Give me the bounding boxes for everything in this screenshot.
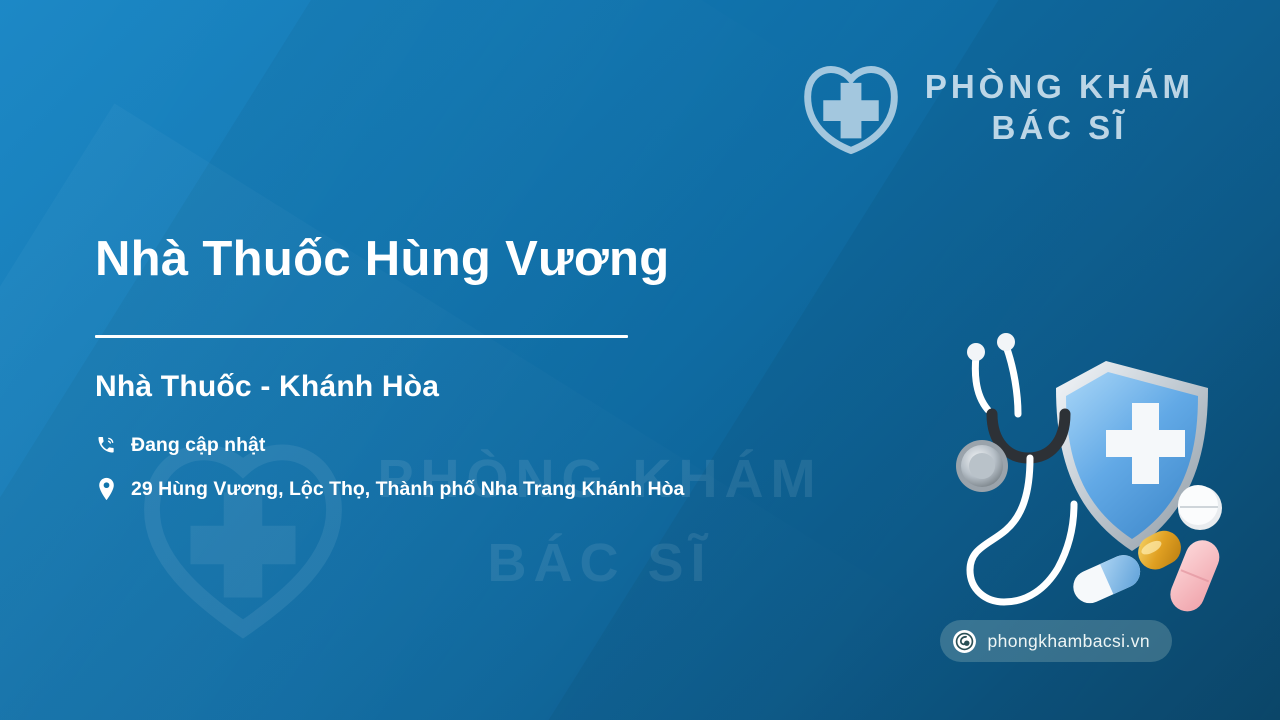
phone-status-text: Đang cập nhật	[131, 431, 265, 461]
white-round-tablet	[1178, 485, 1222, 530]
brand-line-2: BÁC SĨ	[991, 109, 1127, 148]
title-divider	[95, 335, 628, 338]
blue-white-capsule	[1068, 550, 1145, 609]
watermark-line-2: BÁC SĨ	[300, 522, 900, 606]
brand-logo: PHÒNG KHÁM BÁC SĨ	[799, 60, 1194, 156]
website-url-text: phongkhambacsi.vn	[988, 631, 1150, 652]
contact-row-phone: Đang cập nhật	[95, 431, 795, 461]
main-content: Nhà Thuốc Hùng Vương Nhà Thuốc - Khánh H…	[95, 232, 795, 519]
stethoscope-chestpiece	[956, 440, 1008, 492]
stethoscope-shield-pills-illustration	[910, 318, 1240, 618]
website-url-badge[interactable]: phongkhambacsi.vn	[940, 620, 1172, 662]
brand-line-1: PHÒNG KHÁM	[925, 68, 1194, 107]
page-title: Nhà Thuốc Hùng Vương	[95, 232, 795, 288]
globe-icon	[952, 629, 977, 654]
medical-cross-heart-icon	[799, 60, 903, 156]
stethoscope-earpiece	[967, 343, 985, 361]
map-pin-icon	[95, 475, 117, 501]
phone-call-icon	[95, 431, 117, 457]
address-text: 29 Hùng Vương, Lộc Thọ, Thành phố Nha Tr…	[131, 475, 684, 505]
pharmacy-banner: PHÒNG KHÁM BÁC SĨ PHÒNG KHÁM BÁC SĨ Nhà …	[0, 0, 1280, 720]
contact-row-address: 29 Hùng Vương, Lộc Thọ, Thành phố Nha Tr…	[95, 475, 795, 505]
stethoscope-earpiece	[997, 333, 1015, 351]
contact-info-list: Đang cập nhật 29 Hùng Vương, Lộc Thọ, Th…	[95, 431, 795, 505]
page-subtitle: Nhà Thuốc - Khánh Hòa	[95, 370, 795, 404]
